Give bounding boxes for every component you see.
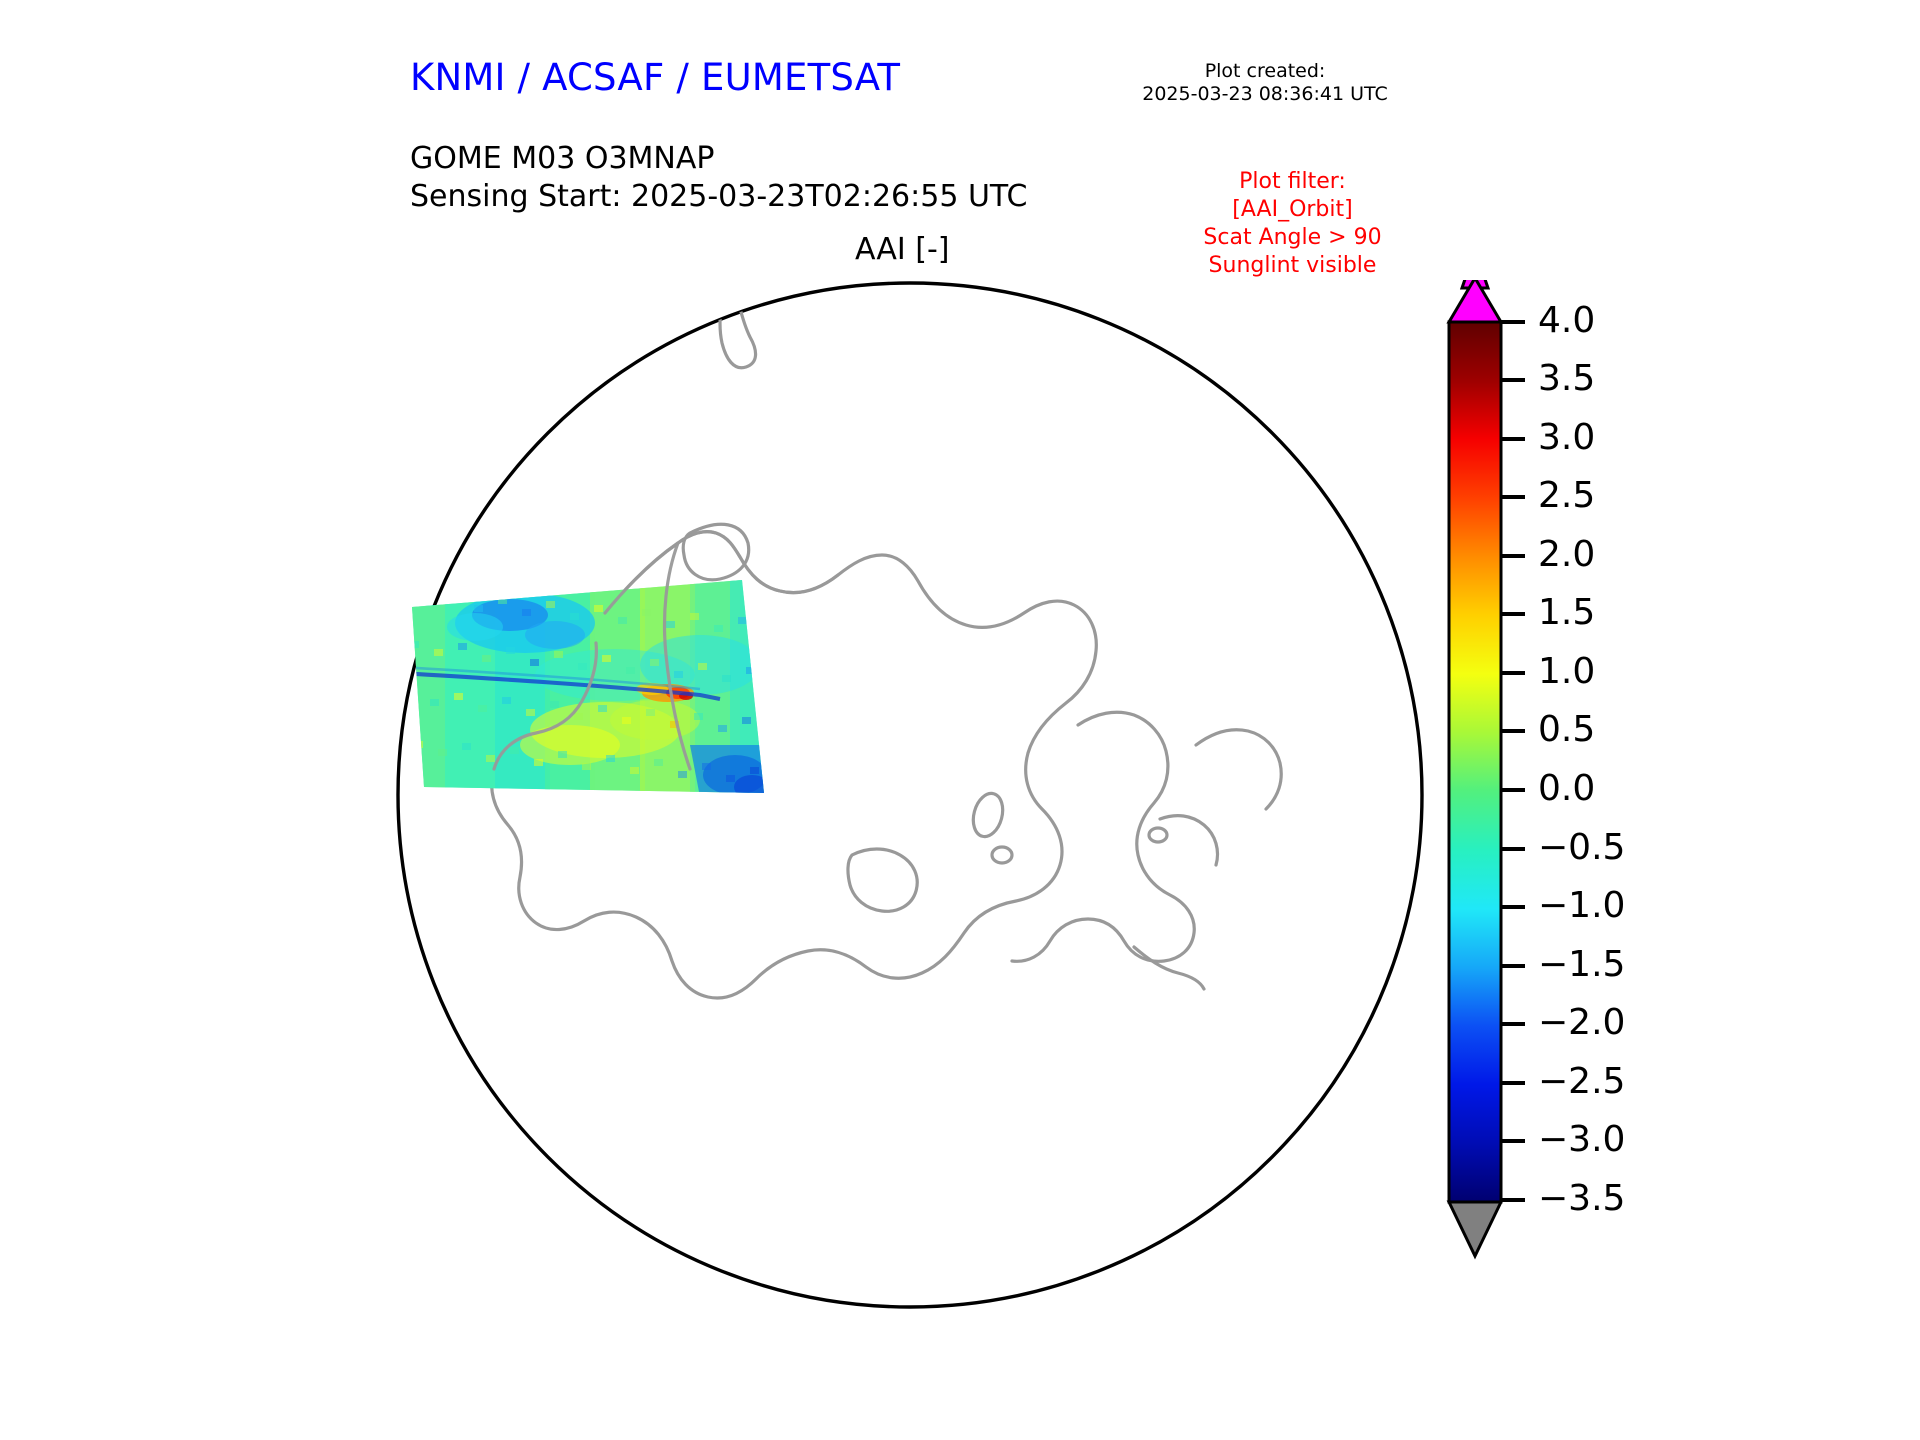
colorbar-tick-label: 4.0: [1538, 300, 1595, 341]
colorbar-tick-labels: 4.0 3.5 3.0 2.5 2.0 1.5 1.0 0.5 0.0 −0.5…: [1538, 300, 1625, 1219]
colorbar-tick-label: 3.5: [1538, 358, 1595, 399]
colorbar-tick-label: −0.5: [1538, 827, 1625, 868]
colorbar-tick-label: 1.0: [1538, 651, 1595, 692]
plot-filter-line-2: Scat Angle > 90: [1150, 224, 1435, 252]
colorbar-under-arrow: [1449, 1202, 1501, 1256]
colorbar-tick-label: 0.0: [1538, 768, 1595, 809]
colorbar-ticks: [1501, 322, 1525, 1200]
colorbar-tick-label: −1.5: [1538, 944, 1625, 985]
organisation-title: KNMI / ACSAF / EUMETSAT: [410, 56, 900, 99]
plot-title-block: GOME M03 O3MNAP Sensing Start: 2025-03-2…: [410, 140, 1027, 217]
plot-filter-block: Plot filter: [AAI_Orbit] Scat Angle > 90…: [1150, 168, 1435, 281]
map-plot-area: [390, 275, 1430, 1315]
colorbar-tick-label: −3.0: [1538, 1119, 1625, 1160]
colorbar-tick-label: 3.0: [1538, 417, 1595, 458]
plot-created-block: Plot created: 2025-03-23 08:36:41 UTC: [1100, 60, 1430, 106]
colorbar-tick-label: 0.5: [1538, 709, 1595, 750]
instrument-title: GOME M03 O3MNAP: [410, 140, 1027, 178]
colorbar: 4.0 3.5 3.0 2.5 2.0 1.5 1.0 0.5 0.0 −0.5…: [1430, 280, 1680, 1300]
colorbar-gradient: [1449, 322, 1501, 1202]
variable-label: AAI [-]: [855, 232, 950, 267]
colorbar-tick-label: 2.0: [1538, 534, 1595, 575]
plot-filter-line-1: [AAI_Orbit]: [1150, 196, 1435, 224]
plot-created-timestamp: 2025-03-23 08:36:41 UTC: [1100, 83, 1430, 106]
colorbar-tick-label: 1.5: [1538, 592, 1595, 633]
colorbar-tick-label: −2.5: [1538, 1061, 1625, 1102]
colorbar-tick-label: −3.5: [1538, 1178, 1625, 1219]
plot-created-label: Plot created:: [1100, 60, 1430, 83]
globe-disc: [398, 283, 1422, 1307]
colorbar-tick-label: 2.5: [1538, 475, 1595, 516]
colorbar-tick-label: −2.0: [1538, 1002, 1625, 1043]
sensing-start-title: Sensing Start: 2025-03-23T02:26:55 UTC: [410, 178, 1027, 216]
plot-filter-heading: Plot filter:: [1150, 168, 1435, 196]
colorbar-tick-label: −1.0: [1538, 885, 1625, 926]
